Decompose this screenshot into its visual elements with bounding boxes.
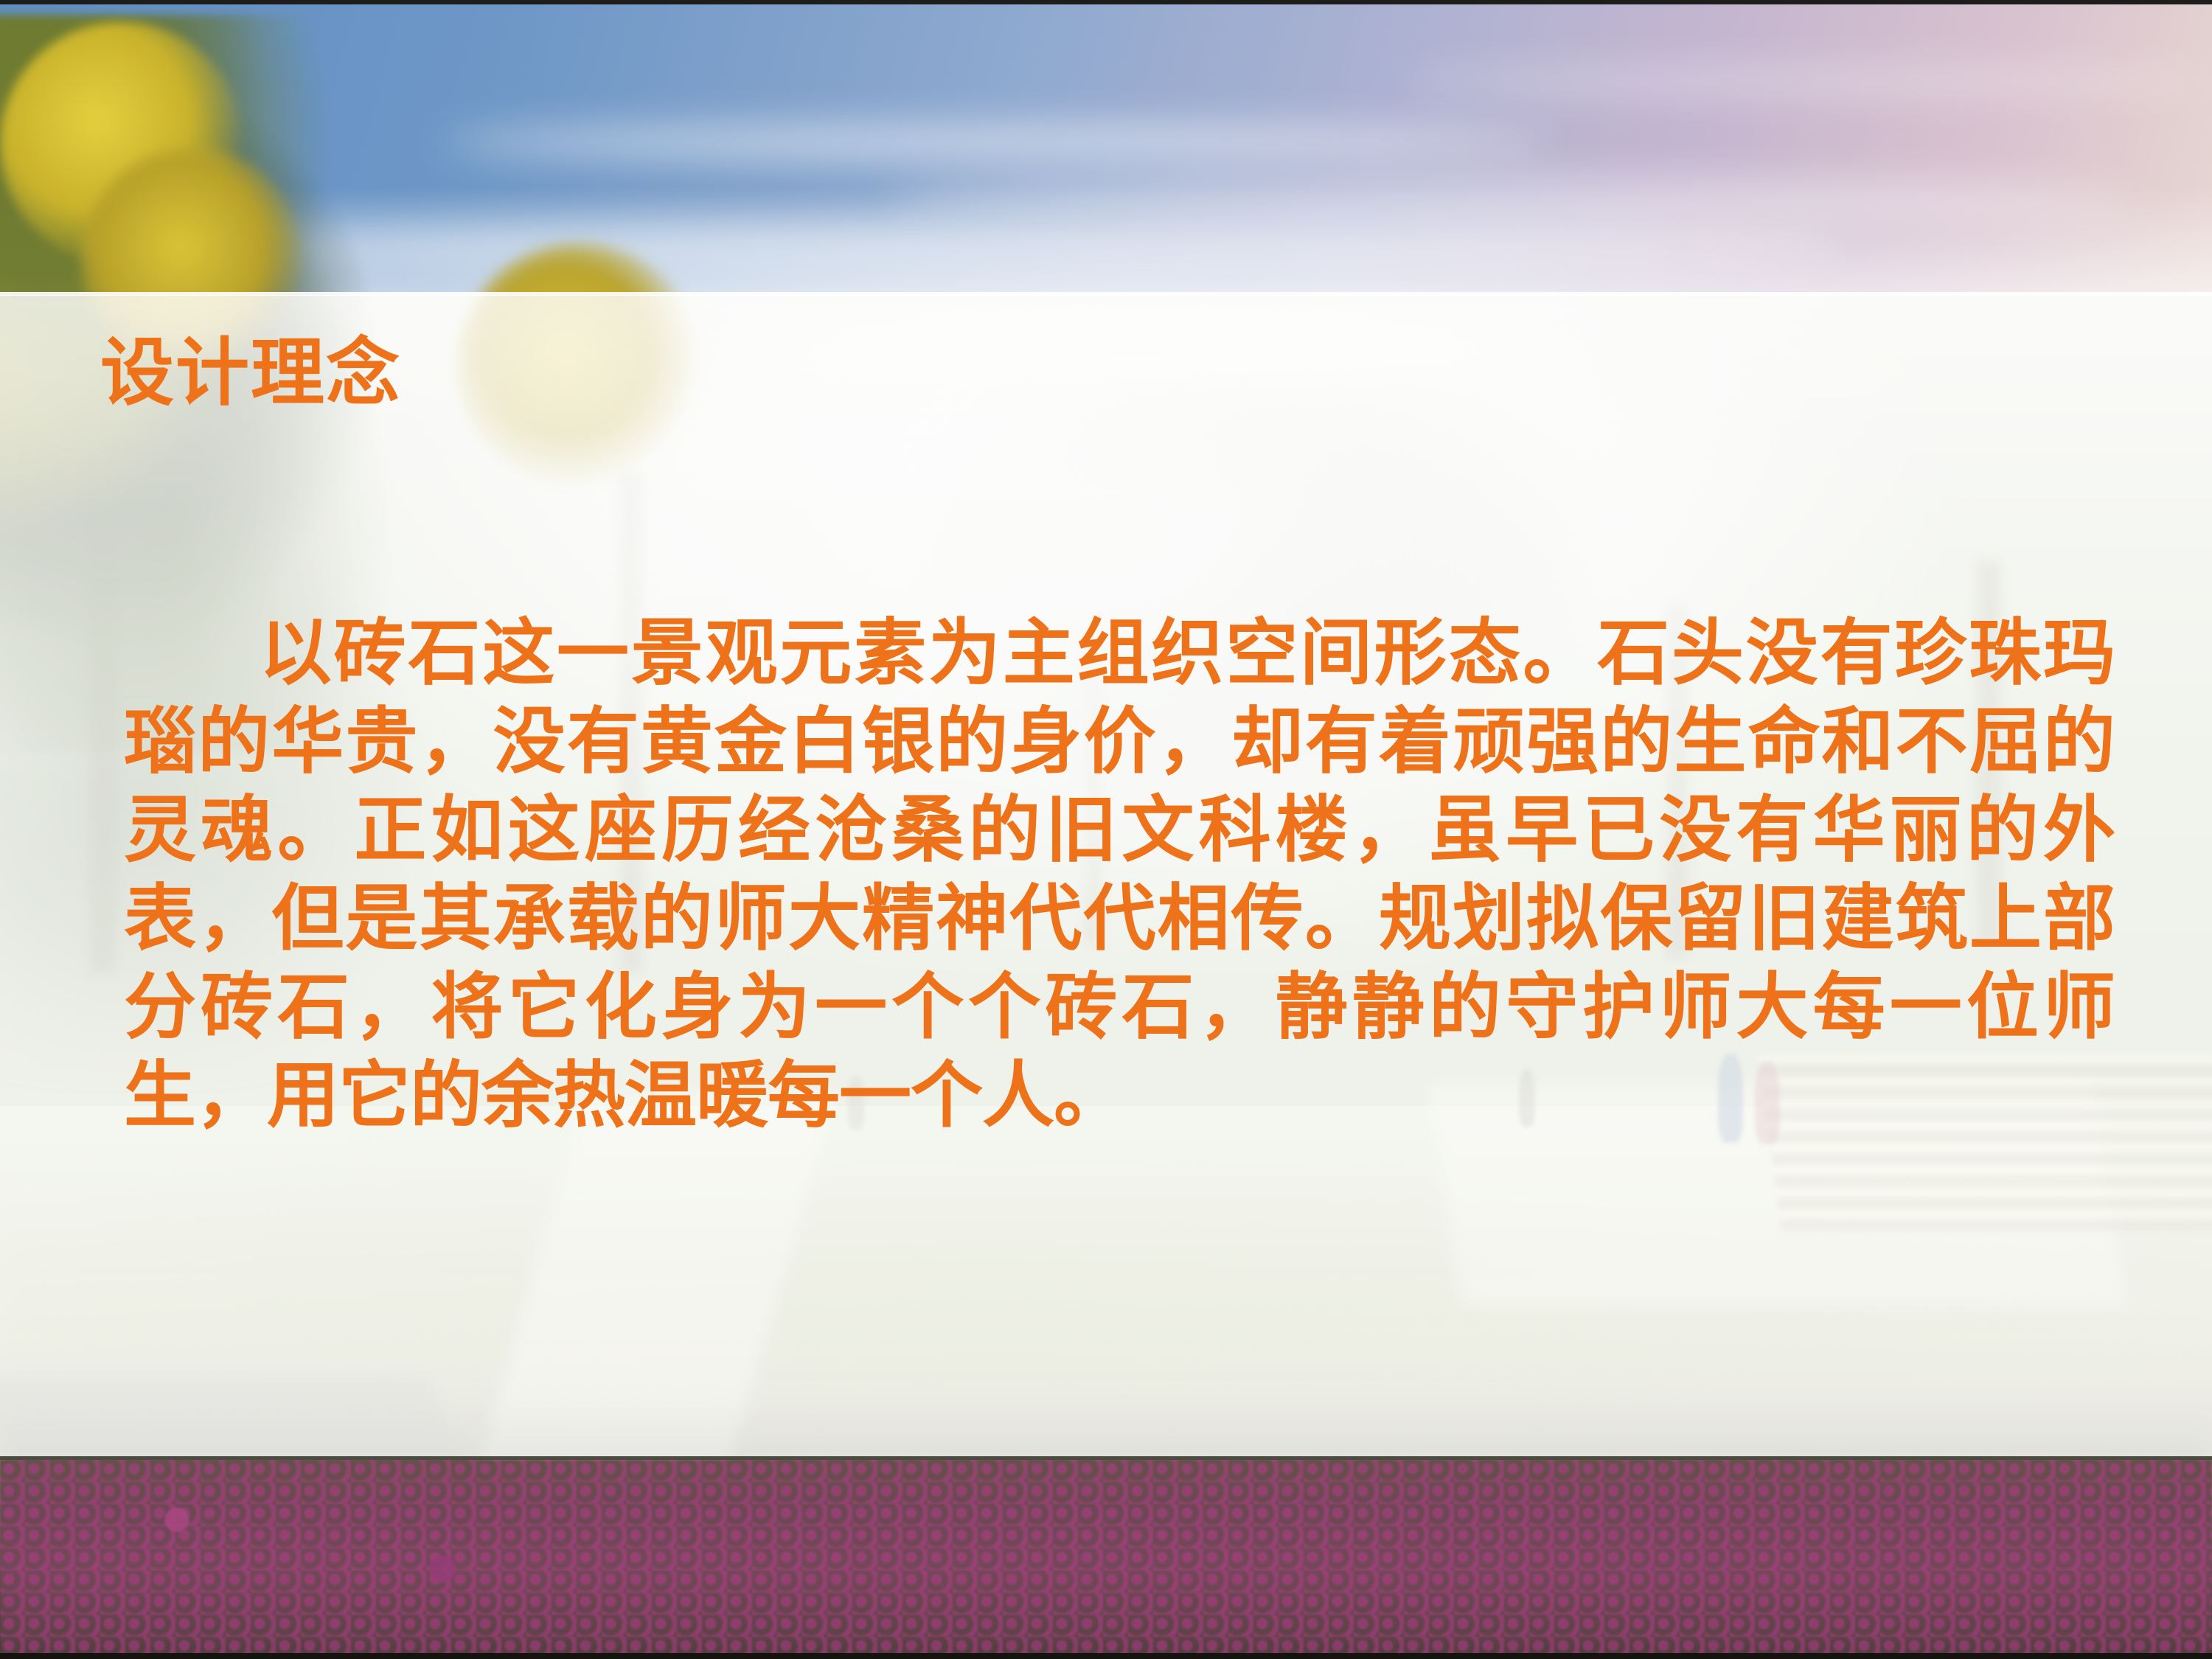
slide-content: 设计理念 以砖石这一景观元素为主组织空间形态。石头没有珍珠玛瑙的华贵，没有黄金白… xyxy=(0,0,2212,1659)
slide-body-paragraph: 以砖石这一景观元素为主组织空间形态。石头没有珍珠玛瑙的华贵，没有黄金白银的身价，… xyxy=(124,609,2115,1140)
presentation-slide: 设计理念 以砖石这一景观元素为主组织空间形态。石头没有珍珠玛瑙的华贵，没有黄金白… xyxy=(0,0,2212,1659)
slide-title: 设计理念 xyxy=(100,336,401,410)
body-paragraph-text: 以砖石这一景观元素为主组织空间形态。石头没有珍珠玛瑙的华贵，没有黄金白银的身价，… xyxy=(124,611,2115,1138)
